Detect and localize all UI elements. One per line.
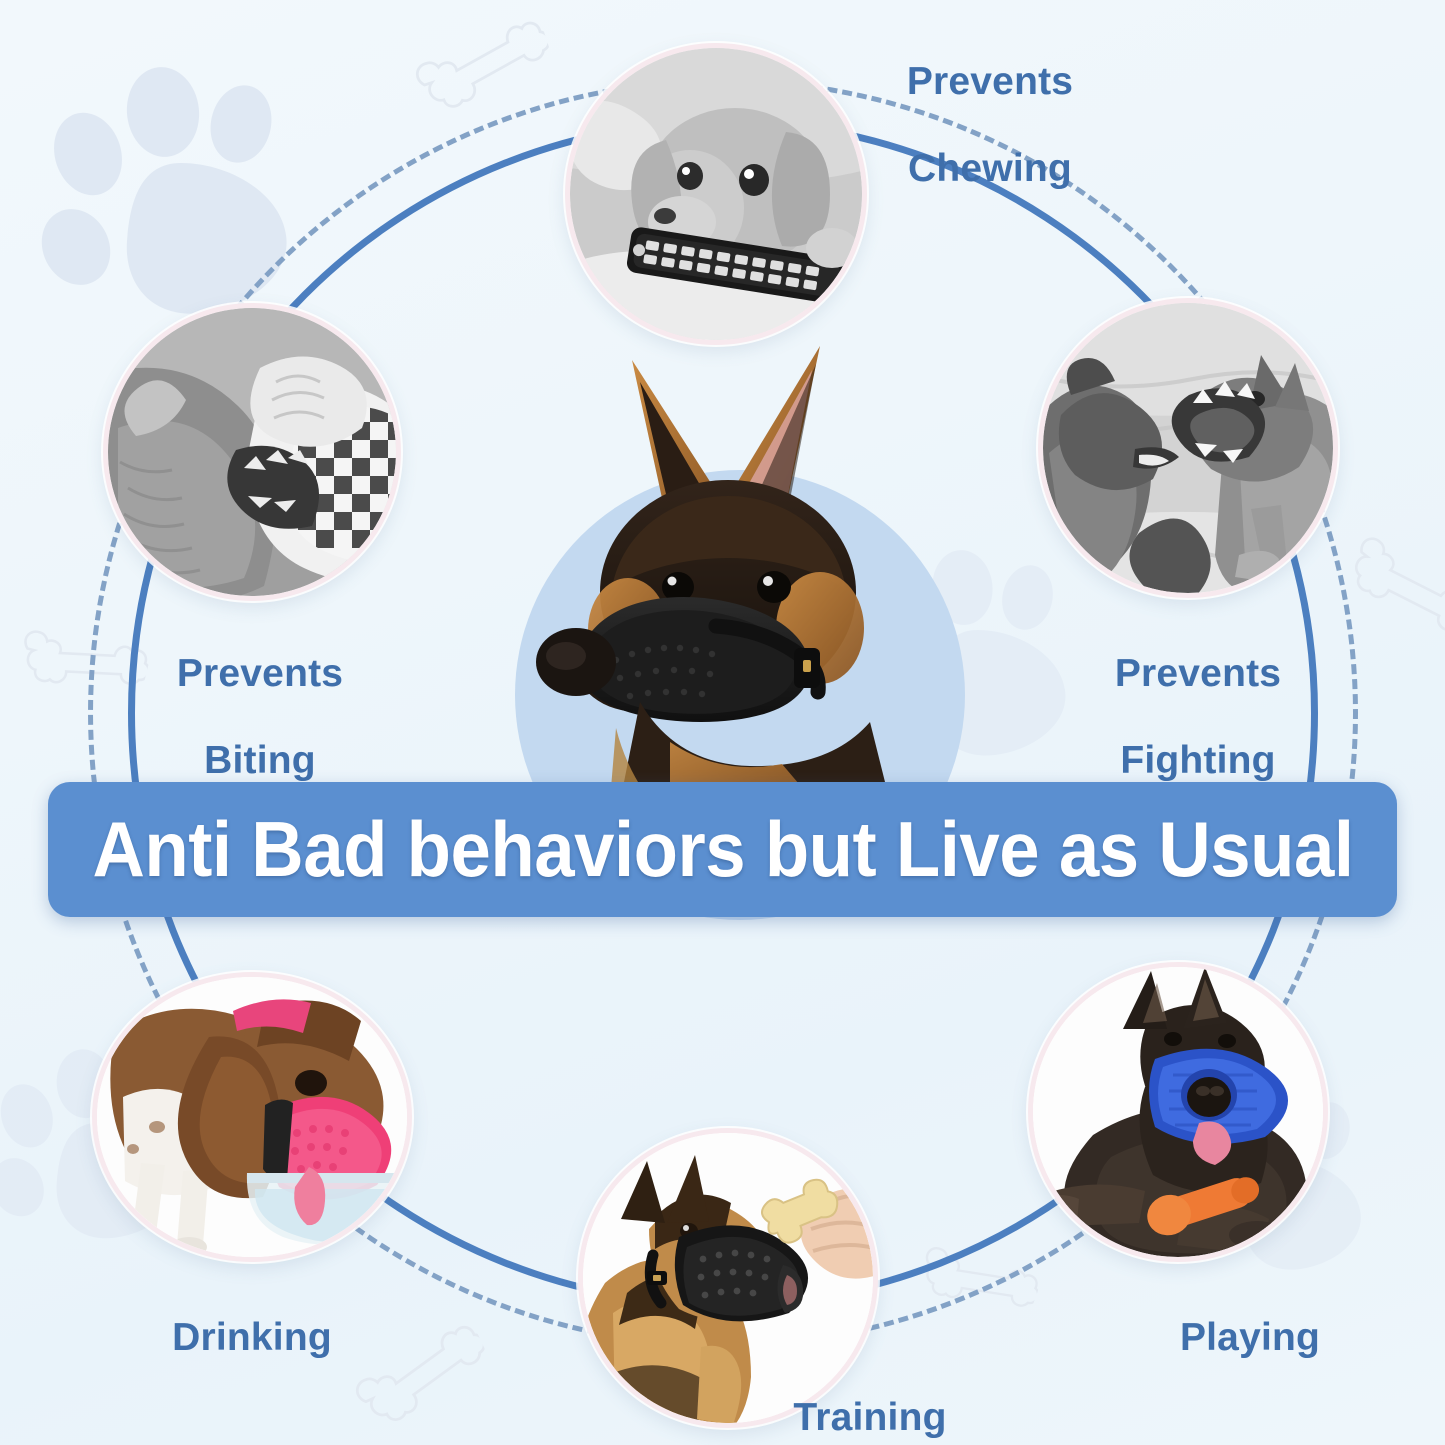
benefit-label-drinking: Drinking xyxy=(112,1272,392,1403)
benefit-label-drinking-line1: Drinking xyxy=(112,1316,392,1360)
benefit-photo-biting[interactable] xyxy=(103,303,401,601)
benefit-label-chewing-line1: Prevents xyxy=(830,60,1150,104)
fighting-photo-image xyxy=(1043,303,1333,593)
benefit-label-chewing: Prevents Chewing xyxy=(830,16,1150,234)
benefit-label-chewing-line2: Chewing xyxy=(830,147,1150,191)
benefit-photo-chewing[interactable] xyxy=(565,43,867,345)
headline-banner-text: Anti Bad behaviors but Live as Usual xyxy=(92,804,1353,895)
biting-photo-image xyxy=(108,308,396,596)
hero-dog-photo xyxy=(520,330,960,800)
benefit-label-training-line1: Training xyxy=(725,1396,1015,1440)
headline-banner: Anti Bad behaviors but Live as Usual xyxy=(48,782,1397,917)
benefit-label-playing-line1: Playing xyxy=(1110,1316,1390,1360)
product-infographic: Prevents Chewing xyxy=(0,0,1445,1445)
benefit-label-fighting-line2: Fighting xyxy=(1048,739,1348,783)
benefit-label-biting-line2: Biting xyxy=(110,739,410,783)
drinking-photo-image xyxy=(97,977,407,1257)
benefit-label-playing: Playing xyxy=(1110,1272,1390,1403)
chewing-photo-image xyxy=(570,48,862,340)
benefit-photo-drinking[interactable] xyxy=(92,972,412,1262)
benefit-photo-fighting[interactable] xyxy=(1038,298,1338,598)
benefit-photo-playing[interactable] xyxy=(1028,962,1328,1262)
benefit-label-training: Training xyxy=(725,1352,1015,1445)
playing-photo-image xyxy=(1033,967,1323,1257)
benefit-label-fighting-line1: Prevents xyxy=(1048,652,1348,696)
benefit-label-biting-line1: Prevents xyxy=(110,652,410,696)
